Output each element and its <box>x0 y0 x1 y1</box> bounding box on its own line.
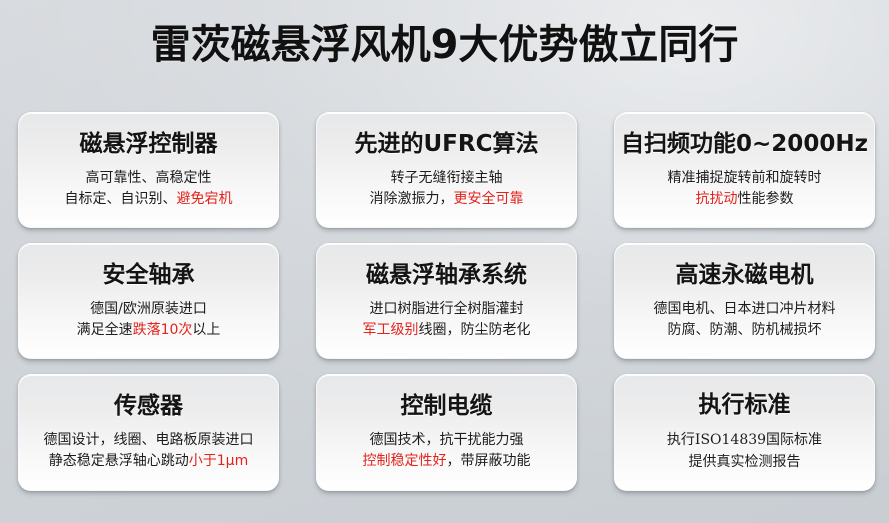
advantage-card-line: 控制稳定性好，带屏蔽功能 <box>325 451 568 472</box>
advantage-card-line: 满足全速跌落10次以上 <box>27 320 270 341</box>
advantage-card-line: 提供真实检测报告 <box>623 451 866 473</box>
body-text: 性能参数 <box>738 191 794 207</box>
body-text: 高可靠性、高稳定性 <box>86 170 212 186</box>
body-text: ，带屏蔽功能 <box>447 453 531 469</box>
advantage-card-line: 自标定、自识别、避免宕机 <box>27 189 270 210</box>
advantage-card-title: 磁悬浮控制器 <box>80 129 218 159</box>
highlighted-text: 更安全可靠 <box>454 191 524 207</box>
advantage-card-body: 高可靠性、高稳定性自标定、自识别、避免宕机 <box>27 168 270 210</box>
body-text: 消除激振力， <box>370 191 454 207</box>
body-text: 以上 <box>192 322 220 338</box>
advantage-card[interactable]: 控制电缆德国技术，抗干扰能力强控制稳定性好，带屏蔽功能 <box>316 374 577 491</box>
advantage-card-line: 军工级别线圈，防尘防老化 <box>325 320 568 341</box>
advantage-card-line: 抗扰动性能参数 <box>623 189 866 210</box>
advantage-card-title: 先进的UFRC算法 <box>355 129 539 159</box>
highlighted-text: 抗扰动 <box>696 191 738 207</box>
advantage-card-body: 德国设计，线圈、电路板原装进口静态稳定悬浮轴心跳动小于1μm <box>27 430 270 472</box>
advantage-card-line: 转子无缝衔接主轴 <box>325 168 568 189</box>
advantage-card-line: 进口树脂进行全树脂灌封 <box>325 299 568 320</box>
advantage-card-body: 执行ISO14839国际标准提供真实检测报告 <box>623 429 866 473</box>
promo-poster: 雷茨磁悬浮风机9大优势傲立同行 磁悬浮控制器高可靠性、高稳定性自标定、自识别、避… <box>0 0 889 523</box>
body-text: 静态稳定悬浮轴心跳动 <box>49 453 189 469</box>
highlighted-text: 军工级别 <box>363 322 419 338</box>
body-text: 进口树脂进行全树脂灌封 <box>370 301 524 317</box>
advantage-card[interactable]: 执行标准执行ISO14839国际标准提供真实检测报告 <box>614 374 875 491</box>
advantage-card-line: 高可靠性、高稳定性 <box>27 168 270 189</box>
body-text: 精准捕捉旋转前和旋转时 <box>668 170 822 186</box>
advantage-card-body: 德国技术，抗干扰能力强控制稳定性好，带屏蔽功能 <box>325 430 568 472</box>
body-text: 德国/欧洲原装进口 <box>90 301 207 317</box>
advantage-card[interactable]: 先进的UFRC算法转子无缝衔接主轴消除激振力，更安全可靠 <box>316 112 577 228</box>
body-text: 德国设计，线圈、电路板原装进口 <box>44 432 254 448</box>
body-text: 线圈，防尘防老化 <box>419 322 531 338</box>
body-text: 德国电机、日本进口冲片材料 <box>654 301 836 317</box>
advantage-card-line: 德国技术，抗干扰能力强 <box>325 430 568 451</box>
advantage-card[interactable]: 安全轴承德国/欧洲原装进口满足全速跌落10次以上 <box>18 243 279 359</box>
advantage-card[interactable]: 磁悬浮控制器高可靠性、高稳定性自标定、自识别、避免宕机 <box>18 112 279 228</box>
highlighted-text: 跌落10次 <box>133 322 193 338</box>
advantage-card-body: 进口树脂进行全树脂灌封军工级别线圈，防尘防老化 <box>325 299 568 341</box>
advantage-card-title: 自扫频功能0~2000Hz <box>621 129 868 159</box>
advantage-card-body: 精准捕捉旋转前和旋转时抗扰动性能参数 <box>623 168 866 210</box>
advantage-card-line: 德国电机、日本进口冲片材料 <box>623 299 866 320</box>
body-text: 自标定、自识别、 <box>65 191 177 207</box>
advantage-card[interactable]: 高速永磁电机德国电机、日本进口冲片材料防腐、防潮、防机械损坏 <box>614 243 875 359</box>
advantage-card-line: 防腐、防潮、防机械损坏 <box>623 320 866 341</box>
advantage-card-line: 执行ISO14839国际标准 <box>623 429 866 451</box>
body-text: 德国技术，抗干扰能力强 <box>370 432 524 448</box>
advantage-card-title: 执行标准 <box>699 390 791 420</box>
advantage-card-title: 安全轴承 <box>103 260 195 290</box>
body-text: 防腐、防潮、防机械损坏 <box>668 322 822 338</box>
advantage-card-line: 德国/欧洲原装进口 <box>27 299 270 320</box>
page-title: 雷茨磁悬浮风机9大优势傲立同行 <box>0 22 889 68</box>
advantage-card-title: 传感器 <box>114 391 183 421</box>
advantage-card-body: 转子无缝衔接主轴消除激振力，更安全可靠 <box>325 168 568 210</box>
advantage-card-body: 德国电机、日本进口冲片材料防腐、防潮、防机械损坏 <box>623 299 866 341</box>
advantage-card[interactable]: 传感器德国设计，线圈、电路板原装进口静态稳定悬浮轴心跳动小于1μm <box>18 374 279 491</box>
advantage-card-grid: 磁悬浮控制器高可靠性、高稳定性自标定、自识别、避免宕机先进的UFRC算法转子无缝… <box>18 112 875 491</box>
advantage-card-body: 德国/欧洲原装进口满足全速跌落10次以上 <box>27 299 270 341</box>
advantage-card-line: 静态稳定悬浮轴心跳动小于1μm <box>27 451 270 472</box>
body-text: 满足全速 <box>77 322 133 338</box>
highlighted-text: 避免宕机 <box>177 191 233 207</box>
advantage-card-title: 控制电缆 <box>401 391 493 421</box>
advantage-card[interactable]: 自扫频功能0~2000Hz精准捕捉旋转前和旋转时抗扰动性能参数 <box>614 112 875 228</box>
body-text: 提供真实检测报告 <box>689 454 801 470</box>
advantage-card-title: 高速永磁电机 <box>676 260 814 290</box>
body-text: 转子无缝衔接主轴 <box>391 170 503 186</box>
advantage-card-line: 消除激振力，更安全可靠 <box>325 189 568 210</box>
highlighted-text: 小于1μm <box>189 453 248 469</box>
advantage-card[interactable]: 磁悬浮轴承系统进口树脂进行全树脂灌封军工级别线圈，防尘防老化 <box>316 243 577 359</box>
advantage-card-line: 精准捕捉旋转前和旋转时 <box>623 168 866 189</box>
highlighted-text: 控制稳定性好 <box>363 453 447 469</box>
advantage-card-line: 德国设计，线圈、电路板原装进口 <box>27 430 270 451</box>
advantage-card-title: 磁悬浮轴承系统 <box>366 260 527 290</box>
body-text: 执行ISO14839国际标准 <box>667 432 822 448</box>
